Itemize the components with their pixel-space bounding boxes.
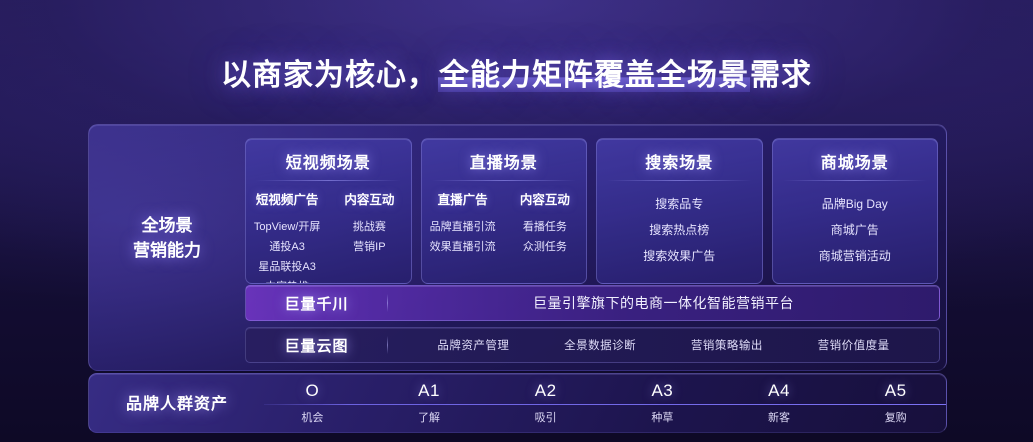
stage-code: O: [254, 381, 371, 401]
scenario-card-title: 直播场景: [422, 149, 587, 180]
capability-panel: 全场景 营销能力 短视频场景 短视频广告 TopView/开屏 通投A3 星品联…: [88, 124, 947, 371]
card-item[interactable]: 众测任务: [504, 237, 586, 257]
card-divider: [783, 180, 928, 181]
card-item[interactable]: 搜索效果广告: [597, 243, 762, 269]
scenario-card-live[interactable]: 直播场景 直播广告 品牌直播引流 效果直播引流 内容互动 看播任务 众测任务: [421, 138, 588, 284]
card-item[interactable]: 星品联投A3: [246, 257, 328, 277]
card-column: 搜索品专 搜索热点榜 搜索效果广告: [597, 189, 762, 269]
stage-code: A4: [721, 381, 838, 401]
capability-item[interactable]: 营销策略输出: [691, 337, 763, 353]
stage-name: 复购: [837, 409, 947, 425]
platform-row-qianchuan[interactable]: 巨量千川 巨量引擎旗下的电商一体化智能营销平台: [245, 285, 940, 321]
page-title-lead: 以商家为核心，: [221, 59, 438, 92]
platform-row-yuntu[interactable]: 巨量云图 品牌资产管理 全景数据诊断 营销策略输出 营销价值度量: [245, 327, 940, 363]
scenario-card-search[interactable]: 搜索场景 搜索品专 搜索热点榜 搜索效果广告: [596, 138, 763, 284]
panel-side-label-line2: 营销能力: [89, 238, 245, 263]
card-column-head: 直播广告: [422, 189, 504, 208]
stage-name: 吸引: [487, 409, 604, 425]
card-divider: [432, 180, 577, 181]
page-title-highlight: 全能力矩阵覆盖全场景: [438, 59, 750, 92]
card-item[interactable]: 效果直播引流: [422, 237, 504, 257]
card-item[interactable]: 品牌Big Day: [773, 191, 938, 217]
platform-row-description: 巨量引擎旗下的电商一体化智能营销平台: [388, 293, 939, 313]
audience-stage-a2[interactable]: A2 吸引: [487, 374, 604, 432]
audience-asset-panel: 品牌人群资产 O 机会 A1 了解 A2 吸引 A3 种草 A4 新客: [88, 373, 947, 433]
scenario-card-title: 商城场景: [773, 149, 938, 180]
card-column-head: 内容互动: [504, 189, 586, 208]
card-column: 内容互动 看播任务 众测任务: [504, 189, 586, 257]
audience-stage-a5[interactable]: A5 复购: [837, 374, 947, 432]
audience-stage-o[interactable]: O 机会: [254, 374, 371, 432]
scenario-card-title: 搜索场景: [597, 149, 762, 180]
card-column-head: 短视频广告: [246, 189, 328, 208]
stage-name: 机会: [254, 409, 371, 425]
stage-code: A5: [837, 381, 947, 401]
card-divider: [607, 180, 752, 181]
card-item[interactable]: 看播任务: [504, 217, 586, 237]
card-column-head: 内容互动: [328, 189, 410, 208]
card-column: 内容互动 挑战赛 营销IP: [328, 189, 410, 284]
stage-name: 种草: [604, 409, 721, 425]
card-item[interactable]: 挑战赛: [328, 217, 410, 237]
card-item[interactable]: 商城广告: [773, 217, 938, 243]
stage-code: A2: [487, 381, 604, 401]
slide-canvas: 以商家为核心，全能力矩阵覆盖全场景需求 全场景 营销能力 短视频场景 短视频广告…: [0, 0, 1033, 442]
audience-stage-a3[interactable]: A3 种草: [604, 374, 721, 432]
card-item[interactable]: TopView/开屏: [246, 217, 328, 237]
stage-name: 新客: [721, 409, 838, 425]
card-column: 品牌Big Day 商城广告 商城营销活动: [773, 189, 938, 269]
card-item[interactable]: 营销IP: [328, 237, 410, 257]
capability-item[interactable]: 品牌资产管理: [437, 337, 509, 353]
scenario-card-short-video[interactable]: 短视频场景 短视频广告 TopView/开屏 通投A3 星品联投A3 内容热推 …: [245, 138, 412, 284]
page-title: 以商家为核心，全能力矩阵覆盖全场景需求: [0, 50, 1033, 94]
scenario-card-title: 短视频场景: [246, 149, 411, 180]
platform-row-brand: 巨量千川: [246, 293, 387, 314]
card-column: 直播广告 品牌直播引流 效果直播引流: [422, 189, 504, 257]
audience-stage-a1[interactable]: A1 了解: [371, 374, 488, 432]
card-divider: [256, 180, 401, 181]
card-item[interactable]: 内容热推: [246, 277, 328, 284]
card-column: 短视频广告 TopView/开屏 通投A3 星品联投A3 内容热推: [246, 189, 328, 284]
platform-row-brand: 巨量云图: [246, 335, 387, 356]
card-item[interactable]: 通投A3: [246, 237, 328, 257]
card-item[interactable]: 品牌直播引流: [422, 217, 504, 237]
platform-row-capability-list: 品牌资产管理 全景数据诊断 营销策略输出 营销价值度量: [388, 337, 939, 353]
capability-item[interactable]: 营销价值度量: [818, 337, 890, 353]
audience-panel-label: 品牌人群资产: [103, 390, 251, 414]
audience-stage-list: O 机会 A1 了解 A2 吸引 A3 种草 A4 新客 A5 复购: [254, 374, 947, 432]
scenario-card-list: 短视频场景 短视频广告 TopView/开屏 通投A3 星品联投A3 内容热推 …: [245, 138, 938, 284]
stage-name: 了解: [371, 409, 488, 425]
scenario-card-mall[interactable]: 商城场景 品牌Big Day 商城广告 商城营销活动: [772, 138, 939, 284]
card-item[interactable]: 商城营销活动: [773, 243, 938, 269]
card-item[interactable]: 搜索热点榜: [597, 217, 762, 243]
audience-stage-a4[interactable]: A4 新客: [721, 374, 838, 432]
card-item[interactable]: 搜索品专: [597, 191, 762, 217]
stage-code: A3: [604, 381, 721, 401]
page-title-tail: 需求: [750, 59, 812, 92]
panel-side-label: 全场景 营销能力: [89, 213, 245, 263]
stage-code: A1: [371, 381, 488, 401]
panel-side-label-line1: 全场景: [89, 213, 245, 238]
capability-item[interactable]: 全景数据诊断: [564, 337, 636, 353]
